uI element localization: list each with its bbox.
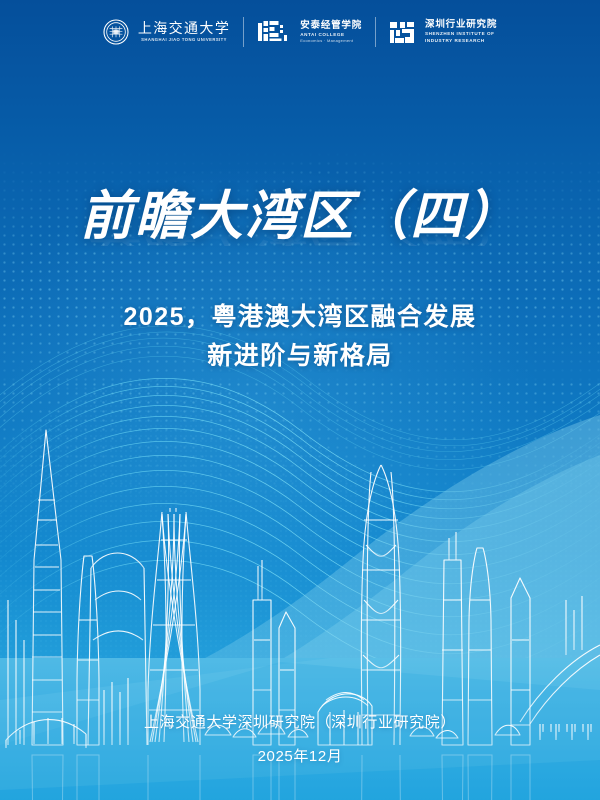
skyline-artwork [0,0,600,800]
main-title-reflection: 前瞻大湾区（四） [0,230,600,247]
shenzhen-institute-icon [389,20,416,45]
footer-block: 上海交通大学深圳研究院（深圳行业研究院） 2025年12月 [0,711,600,766]
logo-antai: 安泰经管学院 ANTAI COLLEGE Economics · Managem… [244,19,375,45]
logo-sjtu-name-en: SHANGHAI JIAO TONG UNIVERSITY [138,38,230,42]
logo-antai-name-en: ANTAI COLLEGE [300,33,362,38]
antai-ace-icon [257,19,291,45]
subtitle-line-1: 2025，粤港澳大湾区融合发展 [0,298,600,337]
title-block: 前瞻大湾区（四） 前瞻大湾区（四） 2025，粤港澳大湾区融合发展 新进阶与新格… [0,190,600,376]
logo-siir-name-cn: 深圳行业研究院 [425,20,497,30]
logo-sjtu-name-cn: 上海交通大学 [138,21,230,35]
footer-organization: 上海交通大学深圳研究院（深圳行业研究院） [0,711,600,732]
sjtu-seal-icon [103,19,129,45]
logo-sjtu: 上海交通大学 SHANGHAI JIAO TONG UNIVERSITY [90,19,243,45]
footer-date: 2025年12月 [0,745,600,766]
logo-antai-name-en2: Economics · Management [300,39,362,43]
logo-antai-name-cn: 安泰经管学院 [300,21,362,31]
subtitle-line-2: 新进阶与新格局 [0,337,600,376]
logo-siir-name-en: SHENZHEN INSTITUTE OF [425,32,497,37]
subtitle-block: 2025，粤港澳大湾区融合发展 新进阶与新格局 [0,298,600,376]
logo-shenzhen-institute: 深圳行业研究院 SHENZHEN INSTITUTE OF INDUSTRY R… [376,20,510,45]
header-logo-bar: 上海交通大学 SHANGHAI JIAO TONG UNIVERSITY 安泰经 [0,0,600,64]
poster-cover: 上海交通大学 SHANGHAI JIAO TONG UNIVERSITY 安泰经 [0,0,600,800]
logo-siir-name-en2: INDUSTRY RESEARCH [425,39,497,44]
